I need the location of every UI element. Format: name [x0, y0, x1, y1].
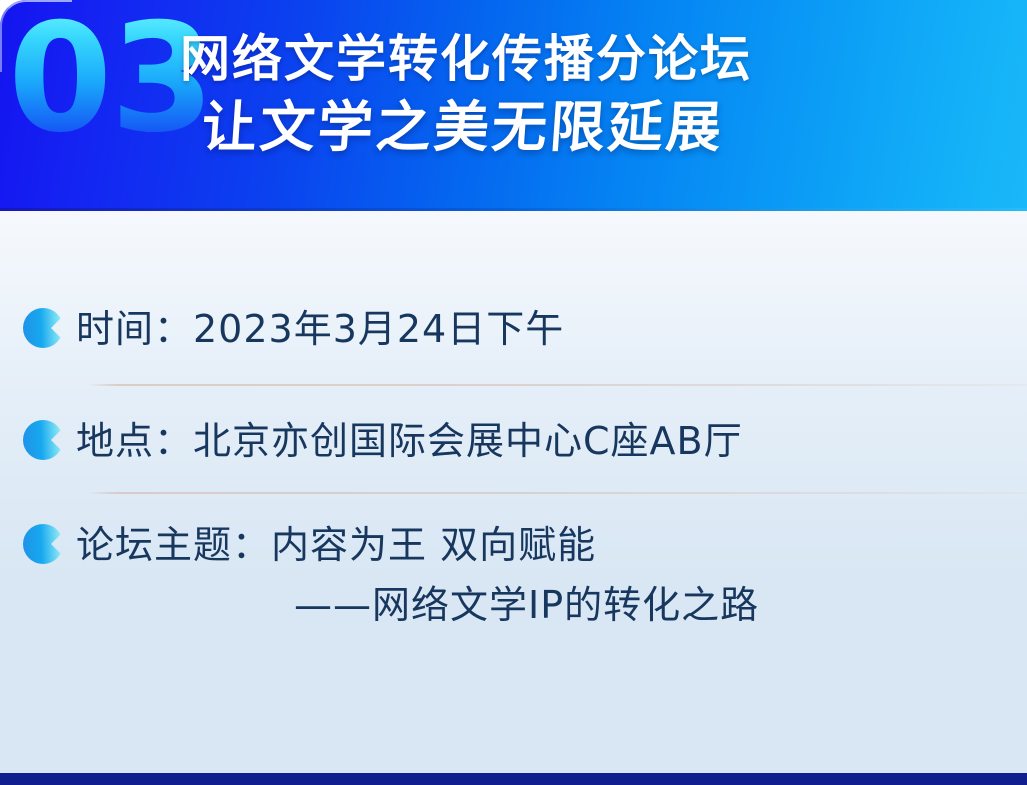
info-row-location-textwrap: 地点：北京亦创国际会展中心C座AB厅 [76, 412, 1027, 470]
spacer-before-row-3 [0, 494, 1027, 516]
forum-title-secondary: 让文学之美无限延展 [199, 91, 882, 163]
spacer-after-row-2 [0, 470, 1027, 492]
info-row-theme-textwrap: 论坛主题：内容为王 双向赋能 ——网络文学IP的转化之路 [76, 516, 1027, 636]
header-title-block: 网络文学转化传播分论坛 让文学之美无限延展 [180, 27, 880, 163]
slide-canvas: 03 网络文学转化传播分论坛 让文学之美无限延展 [0, 0, 1027, 785]
spacer-before-row-2 [0, 386, 1027, 412]
info-row-location: 地点：北京亦创国际会展中心C座AB厅 [0, 412, 1027, 470]
info-row-time-label: 时间：2023年3月24日下午 [76, 307, 564, 351]
header-banner: 03 网络文学转化传播分论坛 让文学之美无限延展 [0, 0, 1027, 211]
circle-crescent-bullet-icon [22, 419, 64, 461]
info-row-theme: 论坛主题：内容为王 双向赋能 ——网络文学IP的转化之路 [0, 516, 1027, 636]
info-row-theme-sublabel: ——网络文学IP的转化之路 [76, 574, 1027, 636]
info-row-theme-label: 论坛主题：内容为王 双向赋能 [76, 516, 1027, 574]
bottom-accent-bar [0, 773, 1027, 785]
info-row-location-label: 地点：北京亦创国际会展中心C座AB厅 [76, 419, 743, 463]
circle-crescent-bullet-icon [22, 523, 64, 565]
circle-crescent-bullet-icon [22, 307, 64, 349]
info-list: 时间：2023年3月24日下午 [0, 300, 1027, 636]
info-row-time-textwrap: 时间：2023年3月24日下午 [76, 300, 1027, 358]
spacer-after-row-1 [0, 358, 1027, 384]
info-row-time: 时间：2023年3月24日下午 [0, 300, 1027, 358]
forum-title-primary: 网络文学转化传播分论坛 [180, 27, 880, 91]
